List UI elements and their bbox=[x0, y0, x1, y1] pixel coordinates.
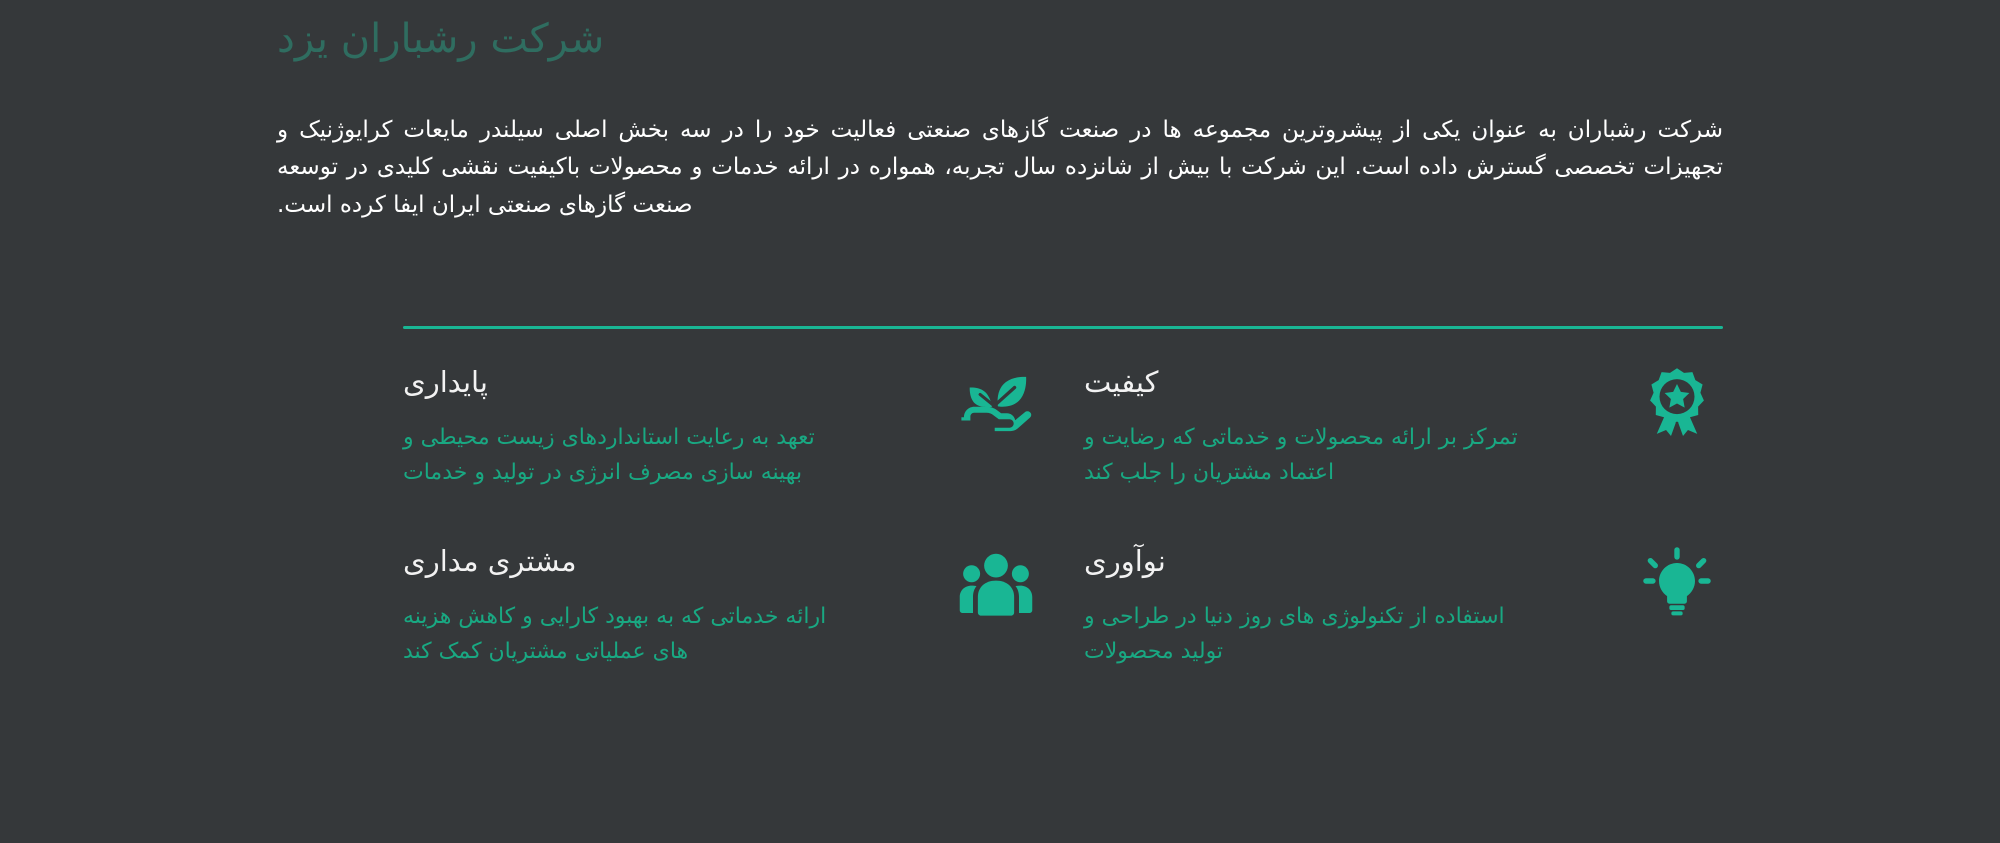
feature-body: پایداری تعهد به رعایت استانداردهای زیست … bbox=[403, 362, 924, 491]
section-divider bbox=[403, 326, 1723, 329]
feature-body: مشتری مداری ارائه خدماتی که به بهبود کار… bbox=[403, 541, 924, 670]
feature-title: پایداری bbox=[403, 364, 924, 402]
people-group-icon bbox=[950, 541, 1042, 633]
about-company-page: شرکت رشباران یزد شرکت رشباران به عنوان ی… bbox=[0, 0, 2000, 843]
page-title: شرکت رشباران یزد bbox=[277, 14, 1723, 64]
lightbulb-icon bbox=[1631, 541, 1723, 633]
feature-grid: کیفیت تمرکز بر ارائه محصولات و خدماتی که… bbox=[403, 362, 1723, 670]
feature-body: کیفیت تمرکز بر ارائه محصولات و خدماتی که… bbox=[1084, 362, 1605, 491]
leaf-in-hand-icon bbox=[950, 362, 1042, 454]
feature-title: نوآوری bbox=[1084, 543, 1605, 581]
feature-description: استفاده از تکنولوژی های روز دنیا در طراح… bbox=[1084, 599, 1544, 670]
feature-description: تمرکز بر ارائه محصولات و خدماتی که رضایت… bbox=[1084, 420, 1544, 491]
feature-title: کیفیت bbox=[1084, 364, 1605, 402]
feature-card-innovation: نوآوری استفاده از تکنولوژی های روز دنیا … bbox=[1084, 541, 1723, 670]
intro-paragraph: شرکت رشباران به عنوان یکی از پیشروترین م… bbox=[277, 112, 1723, 224]
feature-title: مشتری مداری bbox=[403, 543, 924, 581]
feature-description: تعهد به رعایت استانداردهای زیست محیطی و … bbox=[403, 420, 863, 491]
feature-description: ارائه خدماتی که به بهبود کارایی و کاهش ه… bbox=[403, 599, 863, 670]
feature-card-sustainability: پایداری تعهد به رعایت استانداردهای زیست … bbox=[403, 362, 1042, 491]
feature-body: نوآوری استفاده از تکنولوژی های روز دنیا … bbox=[1084, 541, 1605, 670]
feature-card-customer-focus: مشتری مداری ارائه خدماتی که به بهبود کار… bbox=[403, 541, 1042, 670]
medal-icon bbox=[1631, 362, 1723, 454]
feature-card-quality: کیفیت تمرکز بر ارائه محصولات و خدماتی که… bbox=[1084, 362, 1723, 491]
